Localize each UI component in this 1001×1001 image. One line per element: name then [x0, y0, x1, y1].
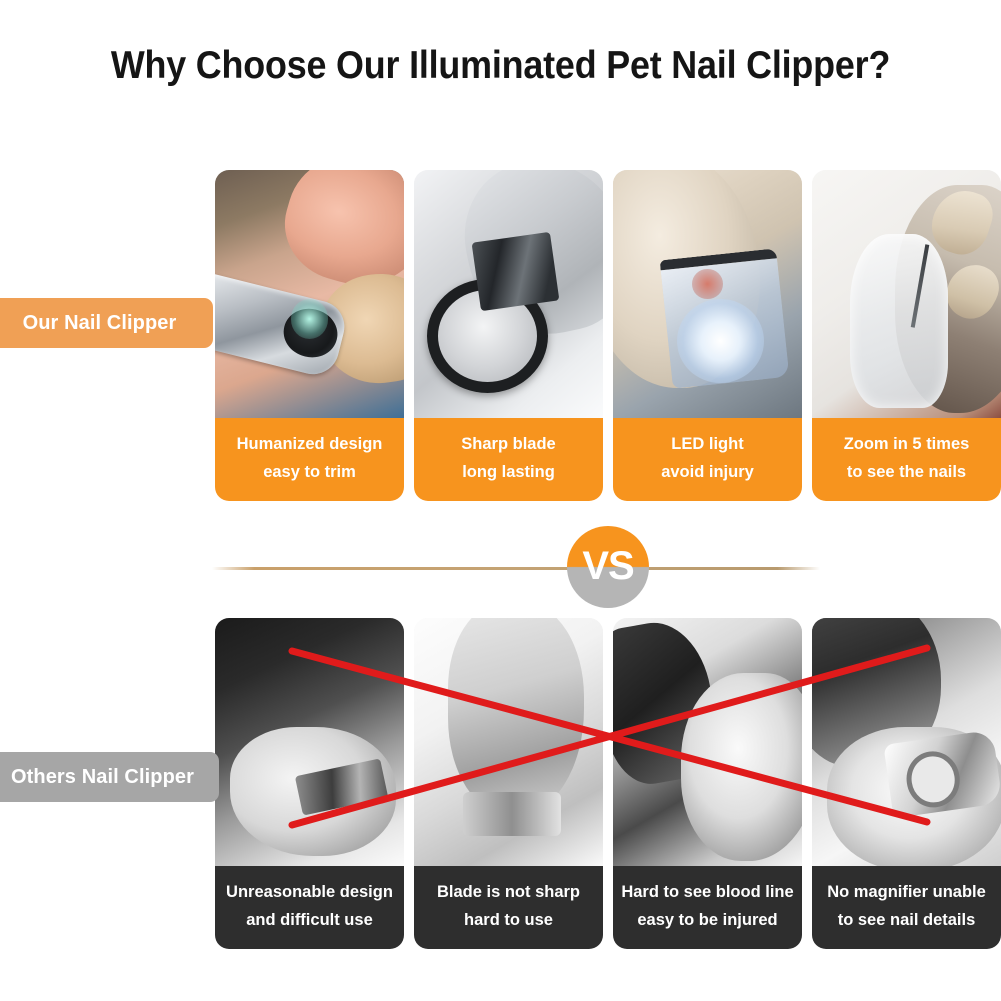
caption-line-2: hard to use	[420, 906, 597, 934]
feature-card-led-light: LED light avoid injury	[613, 170, 802, 501]
clipper-shape	[883, 730, 1001, 819]
others-clipper-drawback-row: Unreasonable design and difficult use Bl…	[215, 618, 1001, 949]
caption-unreasonable-design: Unreasonable design and difficult use	[215, 866, 404, 949]
label-our-nail-clipper-text: Our Nail Clipper	[23, 312, 177, 335]
clipper-body-shape	[215, 272, 350, 380]
caption-line-2: easy to be injured	[619, 906, 796, 934]
caption-line-1: Sharp blade	[461, 435, 555, 453]
caption-line-2: to see the nails	[818, 458, 995, 486]
photo-nail-clipper-on-cat-paw	[215, 170, 404, 418]
drawback-card-blood-line: Hard to see blood line easy to be injure…	[613, 618, 802, 949]
caption-blood-line: Hard to see blood line easy to be injure…	[613, 866, 802, 949]
feature-card-humanized-design: Humanized design easy to trim	[215, 170, 404, 501]
feature-card-sharp-blade: Sharp blade long lasting	[414, 170, 603, 501]
caption-no-magnifier: No magnifier unable to see nail details	[812, 866, 1001, 949]
photo-dull-blade-clipper	[414, 618, 603, 866]
plain-clipper-no-magnifier-grayscale-icon	[812, 618, 1001, 866]
nail-clipper-on-cat-paw-icon	[215, 170, 404, 418]
caption-line-2: and difficult use	[221, 906, 398, 934]
caption-line-1: Zoom in 5 times	[844, 435, 970, 453]
led-glow-shape	[291, 299, 329, 339]
caption-led-light: LED light avoid injury	[613, 418, 802, 501]
label-others-nail-clipper-text: Others Nail Clipper	[11, 766, 194, 789]
caption-line-1: No magnifier unable	[827, 883, 986, 901]
blade-shape	[472, 232, 560, 312]
vs-badge: VS	[567, 526, 649, 608]
label-our-nail-clipper: Our Nail Clipper	[0, 298, 213, 348]
label-others-nail-clipper: Others Nail Clipper	[0, 752, 219, 802]
dark-clipper-on-paw-grayscale-icon	[613, 618, 802, 866]
blood-line-shape	[692, 269, 722, 299]
led-beam-shape	[677, 299, 764, 383]
drawback-card-no-magnifier: No magnifier unable to see nail details	[812, 618, 1001, 949]
our-clipper-feature-row: Humanized design easy to trim Sharp blad…	[215, 170, 1001, 501]
divider-line	[212, 567, 820, 570]
caption-line-2: long lasting	[420, 458, 597, 486]
drawback-card-unreasonable-design: Unreasonable design and difficult use	[215, 618, 404, 949]
feature-card-zoom-magnifier: Zoom in 5 times to see the nails	[812, 170, 1001, 501]
vs-divider: VS	[0, 520, 1001, 616]
photo-hand-trimming-dog-nail	[215, 618, 404, 866]
caption-line-1: Unreasonable design	[226, 883, 393, 901]
magnifier-lens-shape	[850, 234, 948, 408]
caption-humanized-design: Humanized design easy to trim	[215, 418, 404, 501]
dull-blade-clipper-grayscale-icon	[414, 618, 603, 866]
magnifier-over-nails-icon	[812, 170, 1001, 418]
photo-led-light-on-paw	[613, 170, 802, 418]
led-light-on-paw-icon	[613, 170, 802, 418]
caption-zoom-magnifier: Zoom in 5 times to see the nails	[812, 418, 1001, 501]
photo-magnifier-over-nails	[812, 170, 1001, 418]
caption-blade-not-sharp: Blade is not sharp hard to use	[414, 866, 603, 949]
vs-badge-text: VS	[582, 546, 633, 588]
caption-sharp-blade: Sharp blade long lasting	[414, 418, 603, 501]
caption-line-1: Humanized design	[237, 435, 383, 453]
drawback-card-blade-not-sharp: Blade is not sharp hard to use	[414, 618, 603, 949]
photo-plain-clipper-no-magnifier	[812, 618, 1001, 866]
caption-line-1: Hard to see blood line	[621, 883, 793, 901]
page-title: Why Choose Our Illuminated Pet Nail Clip…	[40, 44, 961, 88]
caption-line-1: LED light	[671, 435, 743, 453]
caption-line-2: avoid injury	[619, 458, 796, 486]
photo-clipper-blade-ring	[414, 170, 603, 418]
clipper-blade-ring-macro-icon	[414, 170, 603, 418]
caption-line-2: easy to trim	[221, 458, 398, 486]
hand-trimming-dog-nail-grayscale-icon	[215, 618, 404, 866]
caption-line-1: Blade is not sharp	[437, 883, 580, 901]
caption-line-2: to see nail details	[818, 906, 995, 934]
photo-dark-clipper-on-paw	[613, 618, 802, 866]
